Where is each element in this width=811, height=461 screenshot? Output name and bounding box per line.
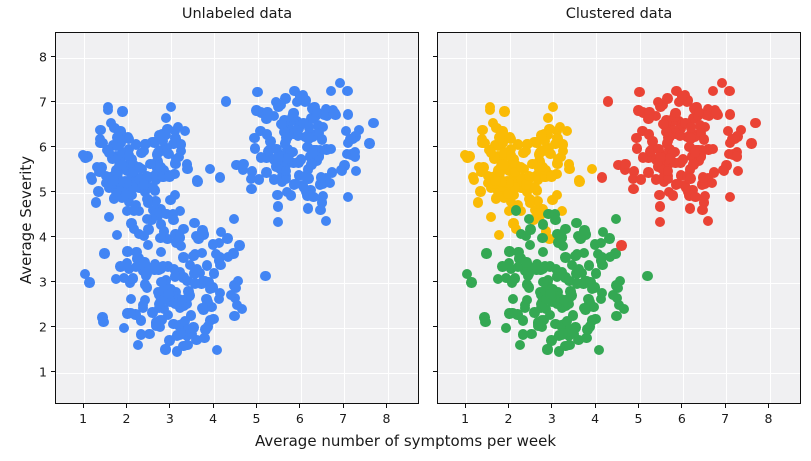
data-point [564,340,574,350]
data-point [688,159,698,169]
y-tick-mark [51,371,55,372]
x-tick-label: 5 [635,411,643,426]
data-point [685,173,695,183]
data-point [681,183,691,193]
data-point [273,201,283,211]
data-point [182,164,192,174]
data-point [534,149,544,159]
y-tick-label: 8 [21,49,47,64]
data-point [354,125,364,135]
y-tick-label: 6 [21,139,47,154]
data-point [662,93,672,103]
data-point [249,133,259,143]
data-point [163,289,173,299]
data-point [558,139,568,149]
data-point [572,278,582,288]
data-point [350,151,360,161]
y-tick-mark [51,326,55,327]
panel-clustered: Clustered data [437,32,801,404]
data-point [139,257,149,267]
data-point [136,329,146,339]
data-point [315,205,325,215]
y-tick-label: 5 [21,184,47,199]
y-tick-label: 7 [21,94,47,109]
data-point [597,252,607,262]
data-point [254,174,264,184]
data-point [126,294,136,304]
y-tick-label: 3 [21,274,47,289]
data-point [174,152,184,162]
data-point [643,114,653,124]
data-point [694,107,704,117]
data-point [480,317,490,327]
data-point [579,303,589,313]
data-point [104,147,114,157]
data-point [725,192,735,202]
data-point [163,149,173,159]
x-tick-label: 2 [123,411,131,426]
x-tick-label: 5 [253,411,261,426]
data-point [168,215,178,225]
data-point [166,102,176,112]
data-point [511,205,521,215]
data-point [192,264,202,274]
x-tick-mark [681,404,682,408]
x-tick-mark [386,404,387,408]
data-point [260,271,270,281]
data-point [746,138,756,148]
data-point [486,212,496,222]
data-point [521,257,531,267]
data-point [570,322,580,332]
data-point [329,108,339,118]
x-tick-mark [126,404,127,408]
data-point [536,130,546,140]
x-tick-label: 1 [79,411,87,426]
data-point [521,146,531,156]
data-point [368,118,378,128]
data-point [155,233,165,243]
data-point [351,166,361,176]
x-tick-mark [465,404,466,408]
gridline-vertical [301,33,302,403]
data-point [619,304,629,314]
data-point [108,176,118,186]
data-point [486,147,496,157]
x-tick-mark [256,404,257,408]
data-point [497,261,507,271]
data-point [655,201,665,211]
x-tick-label: 1 [461,411,469,426]
data-point [296,154,306,164]
data-point [733,166,743,176]
x-tick-label: 2 [505,411,513,426]
data-point [273,217,283,227]
data-point [620,159,630,169]
data-point [462,269,472,279]
y-tick-label: 1 [21,364,47,379]
data-point [532,262,542,272]
data-point [506,150,516,160]
data-point [732,151,742,161]
data-point [129,205,139,215]
data-point [560,252,570,262]
data-point [209,268,219,278]
data-point [507,308,517,318]
x-tick-mark [551,404,552,408]
data-point [86,172,96,182]
data-point [518,329,528,339]
data-point [161,113,171,123]
data-point [317,134,327,144]
y-tick-mark [433,101,437,102]
data-point [550,215,560,225]
data-point [498,159,508,169]
data-point [478,162,488,172]
data-point [203,321,213,331]
data-point [475,186,485,196]
data-point [668,191,678,201]
panel-title-unlabeled: Unlabeled data [55,6,419,22]
data-point [697,205,707,215]
data-point [283,153,293,163]
data-point [597,288,607,298]
data-point [750,118,760,128]
data-point [192,176,202,186]
data-point [538,219,548,229]
x-tick-label: 4 [591,411,599,426]
data-point [299,183,309,193]
data-point [485,105,495,115]
data-point [564,164,574,174]
plot-area-clustered [437,32,801,404]
data-point [343,109,353,119]
data-point [124,150,134,160]
data-point [112,132,122,142]
x-axis-label: Average number of symptoms per week [0,432,811,450]
data-point [208,239,218,249]
data-point [686,122,696,132]
x-tick-mark [169,404,170,408]
data-point [590,239,600,249]
data-point [490,176,500,186]
gridline-horizontal [438,238,800,239]
data-point [143,198,153,208]
data-point [587,164,597,174]
data-point [246,184,256,194]
x-tick-mark [638,404,639,408]
data-point [665,153,675,163]
x-tick-mark [343,404,344,408]
data-point [304,122,314,132]
y-tick-label: 4 [21,229,47,244]
data-point [678,154,688,164]
data-point [545,149,555,159]
data-point [325,178,335,188]
y-tick-mark [433,191,437,192]
y-tick-mark [51,236,55,237]
x-tick-mark [725,404,726,408]
data-point [508,294,518,304]
data-point [494,132,504,142]
gridline-horizontal [56,328,418,329]
data-point [342,86,352,96]
x-tick-label: 7 [339,411,347,426]
data-point [98,317,108,327]
data-point [99,248,109,258]
data-point [685,133,695,143]
x-tick-label: 3 [548,411,556,426]
data-point [364,138,374,148]
x-tick-label: 6 [678,411,686,426]
data-point [736,125,746,135]
data-point [613,283,623,293]
data-point [271,97,281,107]
data-point [711,108,721,118]
data-point [572,249,582,259]
data-point [725,109,735,119]
data-point [115,261,125,271]
x-tick-mark [213,404,214,408]
data-point [638,152,648,162]
y-tick-mark [51,56,55,57]
data-point [165,195,175,205]
gridline-horizontal [438,58,800,59]
x-tick-label: 3 [166,411,174,426]
x-tick-mark [768,404,769,408]
data-point [321,216,331,226]
x-tick-label: 4 [209,411,217,426]
data-point [506,134,516,144]
data-point [103,105,113,115]
data-point [280,93,290,103]
data-point [326,144,336,154]
data-point [251,105,261,115]
data-point [261,114,271,124]
data-point [558,241,568,251]
data-point [560,224,570,234]
data-point [675,130,685,140]
gridline-horizontal [56,373,418,374]
data-point [199,333,209,343]
data-point [295,91,305,101]
data-point [215,252,225,262]
y-tick-label: 2 [21,319,47,334]
data-point [466,277,476,287]
gridline-vertical [770,33,771,403]
data-point [700,191,710,201]
y-tick-mark [51,281,55,282]
data-point [197,303,207,313]
data-point [190,278,200,288]
data-point [303,173,313,183]
data-point [229,214,239,224]
data-point [205,164,215,174]
data-point [143,240,153,250]
data-point [124,134,134,144]
data-point [556,152,566,162]
panel-title-clustered: Clustered data [437,6,801,22]
data-point [633,105,643,115]
data-point [513,247,523,257]
data-point [190,249,200,259]
data-point [574,176,584,186]
data-point [548,102,558,112]
gridline-vertical [466,33,467,403]
data-point [164,171,174,181]
data-point [708,86,718,96]
data-point [150,262,160,272]
data-point [272,190,282,200]
data-point [238,159,248,169]
y-tick-mark [433,326,437,327]
data-point [546,171,556,181]
data-point [205,281,215,291]
data-point [312,107,322,117]
data-point [316,172,326,182]
data-point [172,346,182,356]
data-point [554,346,564,356]
data-point [537,233,547,243]
y-tick-mark [51,191,55,192]
data-point [685,203,695,213]
data-point [634,87,644,97]
data-point [80,269,90,279]
data-point [156,219,166,229]
data-point [197,225,207,235]
data-point [91,197,101,207]
data-point [581,333,591,343]
data-point [545,289,555,299]
data-point [525,198,535,208]
data-point [585,321,595,331]
panel-unlabeled: Unlabeled data [55,32,419,404]
data-point [658,119,668,129]
data-point [579,225,589,235]
data-point [276,119,286,129]
data-point [677,91,687,101]
data-point [182,340,192,350]
data-point [611,214,621,224]
data-point [343,192,353,202]
data-point [188,322,198,332]
x-tick-label: 8 [383,411,391,426]
data-point [597,172,607,182]
data-point [237,304,247,314]
data-point [231,283,241,293]
data-point [116,159,126,169]
x-tick-mark [508,404,509,408]
x-tick-mark [299,404,300,408]
data-point [642,271,652,281]
data-point [473,197,483,207]
x-tick-label: 6 [296,411,304,426]
data-point [96,162,106,172]
data-point [690,147,700,157]
data-point [543,113,553,123]
data-point [547,195,557,205]
y-tick-mark [433,146,437,147]
data-point [655,217,665,227]
data-point [104,212,114,222]
data-point [616,240,626,250]
data-point [177,295,187,305]
data-point [234,240,244,250]
data-point [160,344,170,354]
scatter-figure: Unlabeled data Clustered data Average nu… [0,0,811,461]
data-point [591,268,601,278]
data-point [533,319,543,329]
data-point [256,152,266,162]
data-point [155,162,165,172]
y-tick-mark [433,236,437,237]
data-point [151,319,161,329]
data-point [538,247,548,257]
data-point [176,139,186,149]
data-point [136,315,146,325]
data-point [125,308,135,318]
data-point [176,241,186,251]
gridline-horizontal [56,58,418,59]
data-point [308,147,318,157]
data-point [117,106,127,116]
data-point [303,203,313,213]
data-point [559,295,569,305]
data-point [515,340,525,350]
plot-area-unlabeled [55,32,419,404]
gridline-horizontal [438,328,800,329]
data-point [293,130,303,140]
data-point [286,191,296,201]
data-point [133,340,143,350]
x-tick-mark [595,404,596,408]
data-point [653,97,663,107]
data-point [93,186,103,196]
data-point [481,248,491,258]
data-point [525,240,535,250]
data-point [131,247,141,257]
data-point [499,106,509,116]
data-point [468,172,478,182]
data-point [215,172,225,182]
data-point [587,281,597,291]
data-point [636,174,646,184]
data-point [603,96,613,106]
data-point [178,252,188,262]
x-tick-label: 7 [721,411,729,426]
data-point [252,87,262,97]
data-point [703,216,713,226]
data-point [215,288,225,298]
data-point [306,159,316,169]
data-point [631,133,641,143]
y-tick-mark [51,146,55,147]
x-tick-mark [83,404,84,408]
data-point [594,345,604,355]
y-tick-mark [433,281,437,282]
data-point [699,134,709,144]
data-point [318,191,328,201]
data-point [574,264,584,274]
data-point [156,247,166,257]
data-point [139,146,149,156]
data-point [154,130,164,140]
data-point [303,133,313,143]
data-point [698,172,708,182]
data-point [84,277,94,287]
data-point [724,86,734,96]
y-tick-mark [51,101,55,102]
